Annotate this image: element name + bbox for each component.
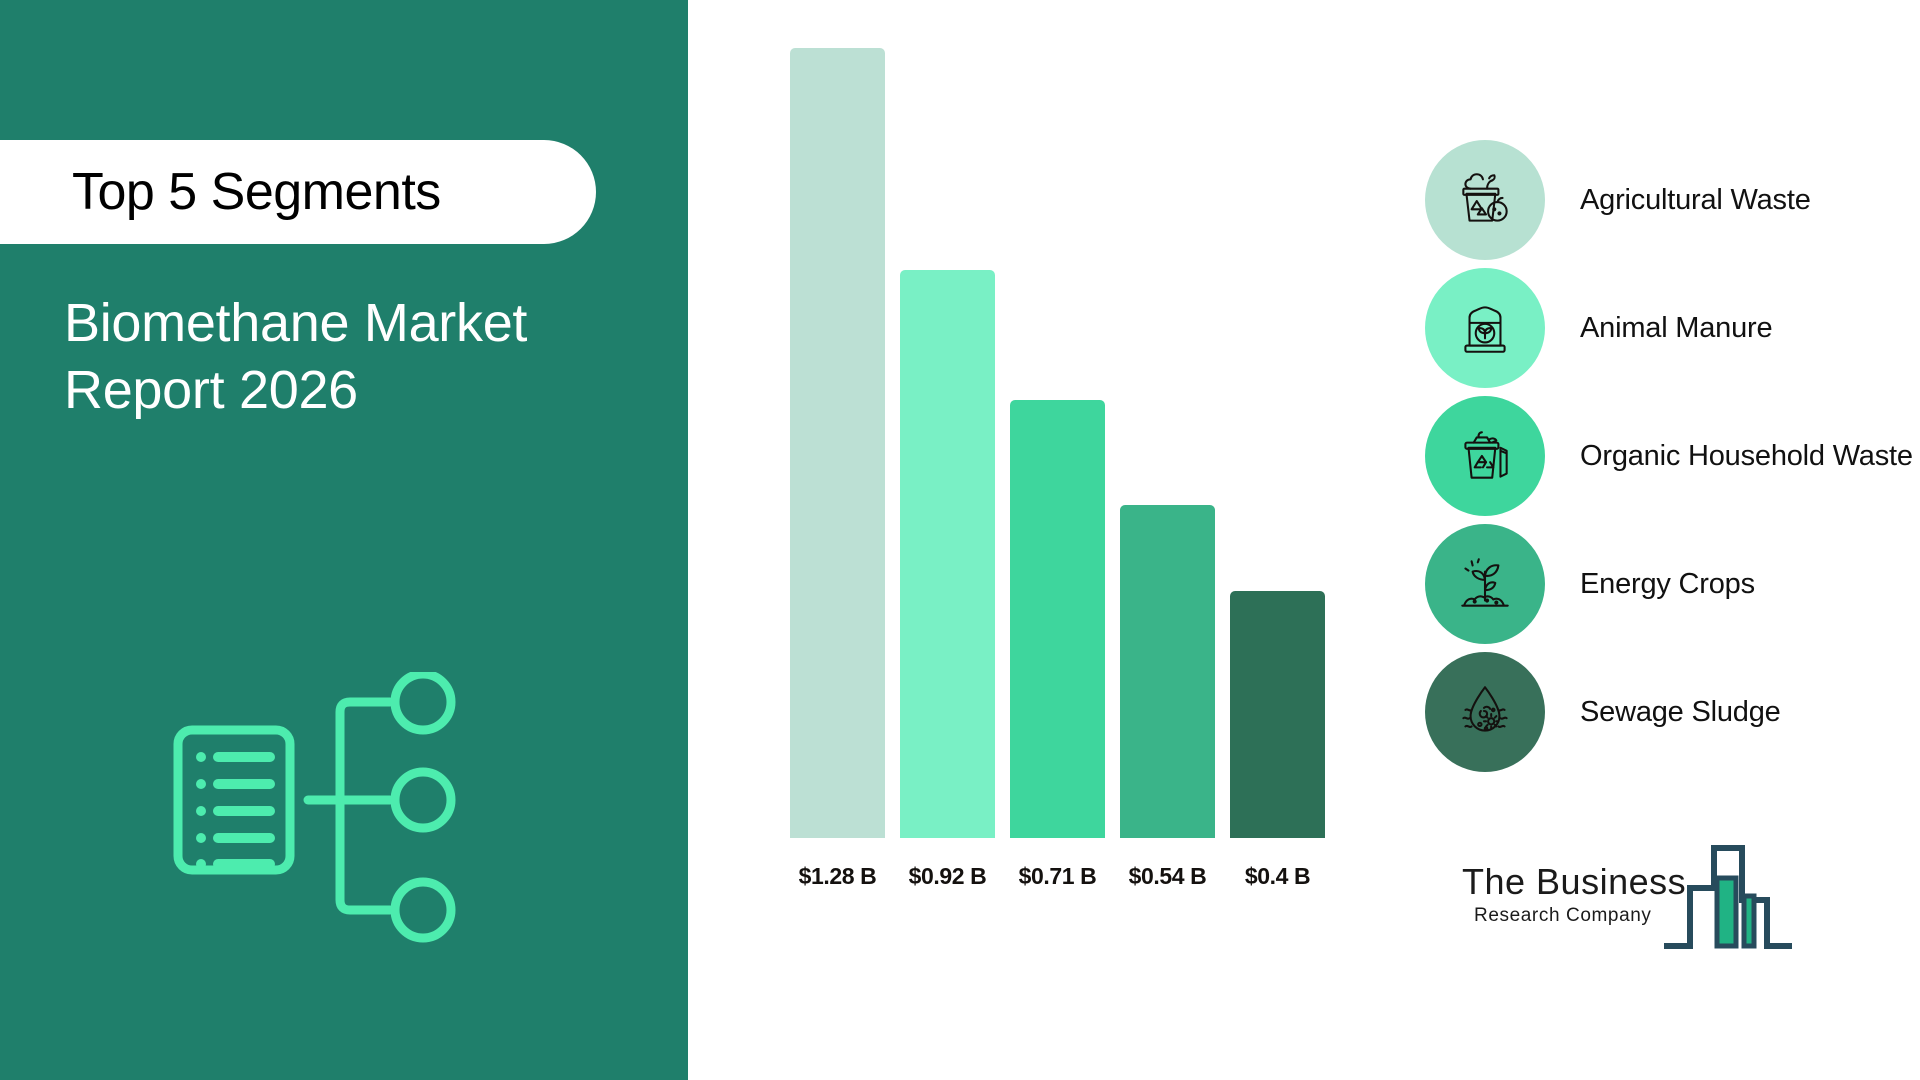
bar-column [790,48,885,838]
bar-column [1230,48,1325,838]
legend-item-label: Energy Crops [1580,568,1755,601]
logo-line-1: The Business [1462,864,1686,900]
bar-value-label: $0.54 B [1120,863,1215,890]
infographic-canvas: Top 5 Segments Biomethane Market Report … [0,0,1920,1080]
legend-item-label: Sewage Sludge [1580,696,1781,729]
manure-sack-icon [1425,268,1545,388]
bar-value-label: $0.71 B [1010,863,1105,890]
document-hierarchy-icon [168,672,488,952]
legend-item: Organic Household Waste [1425,396,1895,516]
company-logo: The Business Research Company [1462,838,1792,953]
legend-item: Agricultural Waste [1425,140,1895,260]
bar-value-labels: $1.28 B$0.92 B$0.71 B$0.54 B$0.4 B [790,863,1390,890]
bar-series [790,48,1390,838]
legend-item: Animal Manure [1425,268,1895,388]
bar [900,270,995,838]
sludge-droplet-icon [1425,652,1545,772]
recycle-bin-icon [1425,396,1545,516]
sprout-plant-icon [1425,524,1545,644]
bar-value-label: $0.92 B [900,863,995,890]
legend-item-label: Agricultural Waste [1580,184,1811,217]
bar-chart-logo-icon [1662,838,1792,953]
report-title: Biomethane Market Report 2026 [64,290,624,424]
bar [1010,400,1105,838]
segment-legend: Agricultural WasteAnimal ManureOrganic H… [1425,140,1895,780]
bar-column [1010,48,1105,838]
bar-value-label: $0.4 B [1230,863,1325,890]
legend-item: Sewage Sludge [1425,652,1895,772]
left-panel: Top 5 Segments Biomethane Market Report … [0,0,688,1080]
bar-column [900,48,995,838]
bar [1120,505,1215,838]
bar-chart: $1.28 B$0.92 B$0.71 B$0.54 B$0.4 B [760,90,1400,920]
badge-pill: Top 5 Segments [0,140,596,244]
legend-item-label: Organic Household Waste [1580,440,1913,473]
compost-bin-icon [1425,140,1545,260]
logo-wordmark: The Business Research Company [1462,864,1686,925]
bar [790,48,885,838]
legend-item-label: Animal Manure [1580,312,1772,345]
logo-line-2: Research Company [1474,906,1686,925]
bar-value-label: $1.28 B [790,863,885,890]
legend-item: Energy Crops [1425,524,1895,644]
bar [1230,591,1325,838]
badge-label: Top 5 Segments [72,162,441,222]
bar-column [1120,48,1215,838]
